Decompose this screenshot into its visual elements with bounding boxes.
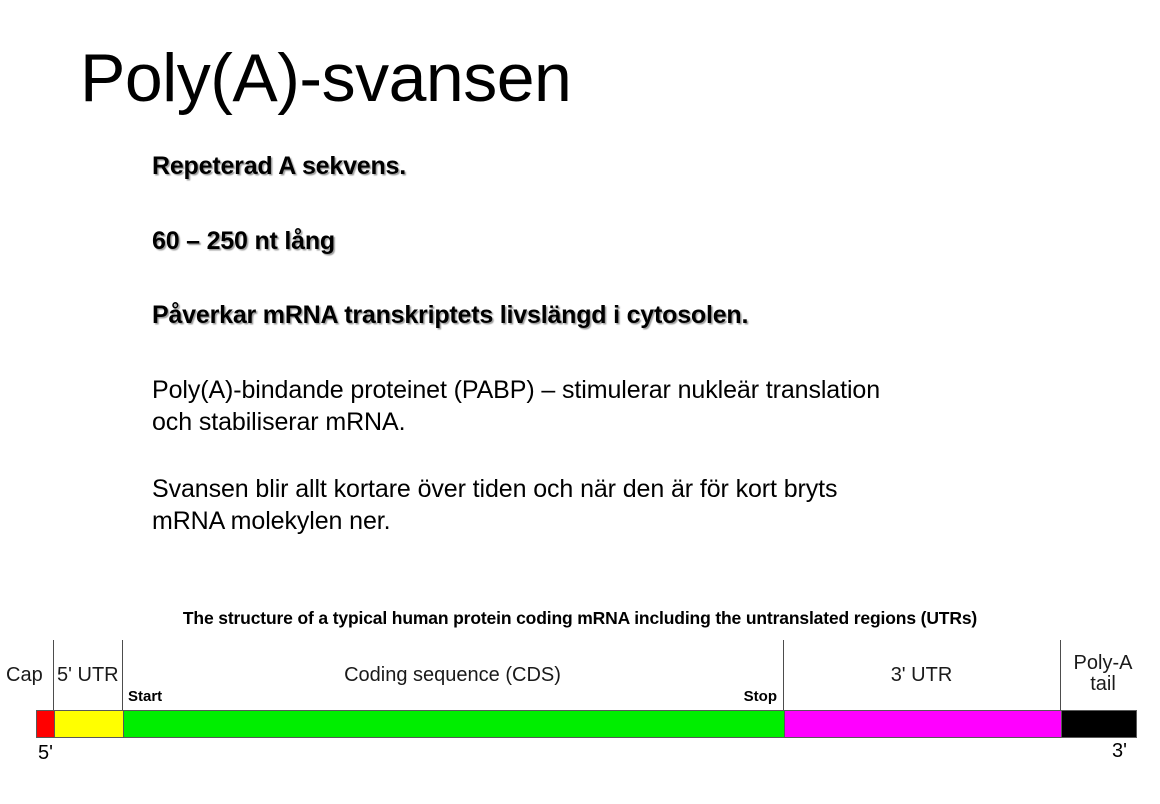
mrna-structure-figure: The structure of a typical human protein…: [0, 600, 1160, 804]
label-polya-tail-line2: tail: [1063, 674, 1143, 695]
segment-cap: [37, 711, 54, 737]
label-start-codon: Start: [128, 688, 162, 705]
mrna-bar: [36, 710, 1137, 738]
label-cds: Coding sequence (CDS): [122, 664, 783, 687]
label-stop-codon: Stop: [683, 688, 777, 705]
segment-5utr: [54, 711, 123, 737]
label-5utr: 5' UTR: [57, 664, 119, 687]
label-5-prime-end: 5': [38, 742, 53, 765]
body-line-pabp: Poly(A)-bindande proteinet (PABP) – stim…: [152, 374, 1052, 439]
body-line-length: 60 – 250 nt lång: [152, 225, 1052, 258]
tick-line-polya: [1060, 640, 1061, 710]
page-title: Poly(A)-svansen: [80, 44, 571, 112]
body-line-repeterad: Repeterad A sekvens.: [152, 150, 1052, 183]
spacer: [152, 183, 1052, 225]
body-text-block: Repeterad A sekvens. 60 – 250 nt lång På…: [152, 150, 1052, 538]
body-line-lifespan: Påverkar mRNA transkriptets livslängd i …: [152, 299, 1052, 332]
segment-3utr: [784, 711, 1061, 737]
label-3utr: 3' UTR: [783, 664, 1060, 687]
label-cap: Cap: [6, 664, 43, 687]
label-3-prime-end: 3': [1112, 740, 1127, 763]
spacer: [152, 332, 1052, 374]
mrna-diagram: Cap 5' UTR Coding sequence (CDS) 3' UTR …: [0, 600, 1160, 804]
spacer: [152, 257, 1052, 299]
segment-polya-tail: [1061, 711, 1136, 737]
segment-cds: [123, 711, 784, 737]
spacer: [152, 439, 1052, 473]
tick-line-cap-utr: [53, 640, 54, 710]
label-polya-tail-line1: Poly-A: [1063, 653, 1143, 674]
body-line-degradation: Svansen blir allt kortare över tiden och…: [152, 473, 1052, 538]
